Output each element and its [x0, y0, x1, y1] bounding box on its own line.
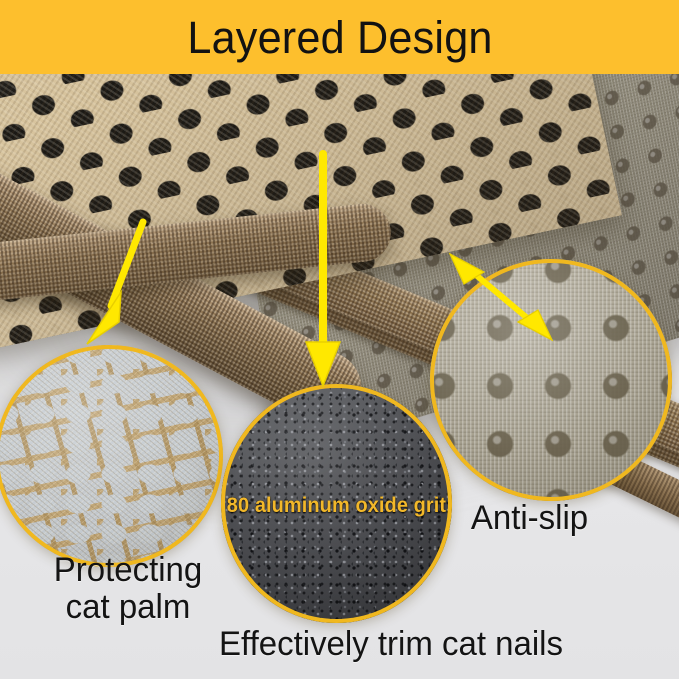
- callout-circle-grit: 80 aluminum oxide grit: [221, 384, 452, 623]
- caption-trim-cat-nails: Effectively trim cat nails: [202, 626, 580, 663]
- callout-circle-mesh: [0, 345, 223, 567]
- infographic-canvas: 80 aluminum oxide grit Protecting cat pa…: [0, 0, 679, 679]
- callout-circle-antislip: [430, 259, 672, 501]
- mesh-closeup-shading: [0, 345, 223, 567]
- antislip-dots-shading: [430, 259, 672, 501]
- caption-mesh-line2: cat palm: [31, 589, 225, 626]
- grit-label: 80 aluminum oxide grit: [227, 494, 446, 518]
- caption-anti-slip: Anti-slip: [471, 500, 655, 537]
- page-title: Layered Design: [187, 15, 492, 60]
- header-banner: Layered Design: [0, 0, 679, 74]
- caption-mesh-line1: Protecting: [31, 552, 225, 589]
- caption-protecting-cat-palm: Protecting cat palm: [31, 552, 225, 625]
